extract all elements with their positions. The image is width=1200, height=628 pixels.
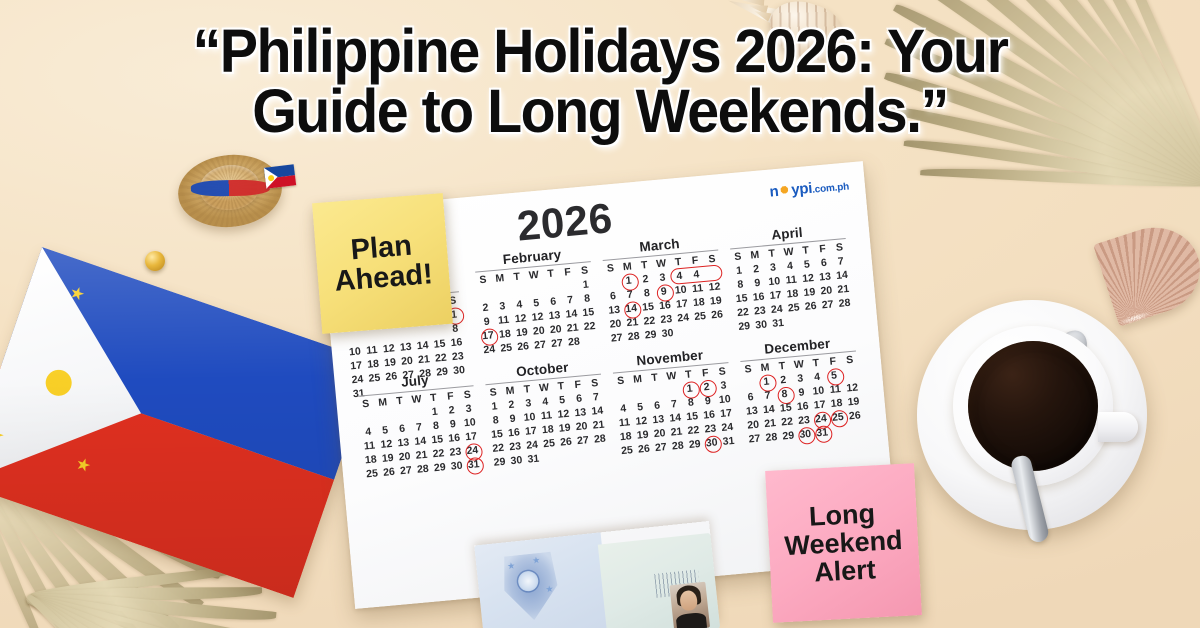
day-cell[interactable]: 29 bbox=[686, 437, 704, 452]
calendar-year: 2026 bbox=[515, 194, 614, 250]
day-cell[interactable]: 30 bbox=[752, 317, 770, 332]
day-empty bbox=[592, 445, 610, 460]
day-cell[interactable]: 30 bbox=[448, 458, 466, 473]
passport-seal-star-1: ★ bbox=[507, 560, 516, 572]
day-cell[interactable]: 26 bbox=[514, 339, 532, 354]
day-empty bbox=[558, 448, 576, 463]
day-cell-highlighted[interactable]: 31 bbox=[813, 425, 831, 440]
day-cell-highlighted[interactable]: 30 bbox=[796, 427, 814, 442]
flag-shading bbox=[0, 247, 375, 598]
flag-cloth: ★ ★ ★ bbox=[0, 247, 375, 598]
month-november: NovemberSMTWTFS1234567891011121314151617… bbox=[605, 345, 742, 459]
title-line-2: Guide to Long Weekends.” bbox=[62, 82, 1137, 142]
sticky-note-plan-ahead: PlanAhead! bbox=[312, 193, 453, 334]
passport-seal-star-3: ★ bbox=[545, 583, 554, 595]
month-april: AprilSMTWTFS1234567891011121314151617181… bbox=[723, 220, 860, 334]
day-cell[interactable]: 31 bbox=[769, 316, 787, 331]
day-cell[interactable]: 31 bbox=[524, 451, 542, 466]
logo-domain: .com.ph bbox=[812, 181, 850, 195]
day-empty bbox=[820, 311, 838, 326]
month-february: FebruarySMTWTFS1234567891112121314151718… bbox=[468, 244, 605, 358]
day-empty bbox=[709, 321, 727, 336]
day-cell[interactable]: 24 bbox=[480, 342, 498, 357]
cup-handle bbox=[1098, 412, 1138, 442]
day-cell[interactable]: 25 bbox=[363, 466, 381, 481]
sticky-note-long-weekend-alert: LongWeekendAlert bbox=[765, 463, 922, 623]
day-cell[interactable]: 31 bbox=[720, 434, 738, 449]
month-march: MarchSMTWTFS1234467891011121314151617181… bbox=[595, 232, 732, 346]
day-empty bbox=[675, 324, 693, 339]
title-line-1: “Philippine Holidays 2026: Your bbox=[62, 22, 1137, 82]
month-december: DecemberSMTWTFS1234567891011121314151617… bbox=[733, 333, 870, 447]
day-cell[interactable]: 27 bbox=[531, 337, 549, 352]
day-cell[interactable]: 25 bbox=[497, 340, 515, 355]
passport-data-page bbox=[598, 533, 721, 628]
day-cell[interactable]: 30 bbox=[658, 326, 676, 341]
passport-left-page: ★ ★ ★ bbox=[474, 532, 612, 628]
flag-pole-finial bbox=[145, 251, 165, 271]
day-empty bbox=[575, 447, 593, 462]
day-cell[interactable]: 26 bbox=[635, 441, 653, 456]
day-empty bbox=[830, 424, 848, 439]
sticky-note-pink-text: LongWeekendAlert bbox=[778, 496, 908, 591]
day-cell[interactable]: 28 bbox=[625, 329, 643, 344]
day-cell[interactable]: 25 bbox=[618, 443, 636, 458]
month-july: JulySMTWTFS12345678910111213141516171819… bbox=[350, 368, 487, 482]
day-cell[interactable]: 27 bbox=[397, 463, 415, 478]
day-cell[interactable]: 28 bbox=[669, 438, 687, 453]
passport-photo bbox=[669, 581, 710, 628]
day-cell[interactable]: 28 bbox=[762, 430, 780, 445]
day-cell[interactable]: 30 bbox=[507, 453, 525, 468]
day-cell[interactable]: 27 bbox=[548, 336, 566, 351]
day-cell[interactable]: 29 bbox=[735, 319, 753, 334]
day-cell[interactable]: 27 bbox=[652, 440, 670, 455]
day-cell[interactable]: 27 bbox=[745, 431, 763, 446]
day-cell[interactable]: 29 bbox=[642, 327, 660, 342]
day-cell-highlighted[interactable]: 31 bbox=[465, 457, 483, 472]
day-empty bbox=[692, 323, 710, 338]
day-cell[interactable]: 27 bbox=[608, 330, 626, 345]
sticky-note-yellow-text: PlanAhead! bbox=[327, 228, 438, 299]
day-cell[interactable]: 28 bbox=[414, 461, 432, 476]
day-empty bbox=[837, 310, 855, 325]
day-cell[interactable]: 29 bbox=[779, 428, 797, 443]
day-cell[interactable]: 28 bbox=[565, 334, 583, 349]
logo-word: ypi bbox=[791, 180, 813, 199]
social-card-image: ★ ★ ★ 2026 n bbox=[0, 0, 1200, 628]
day-empty bbox=[541, 450, 559, 465]
day-empty bbox=[582, 333, 600, 348]
day-cell[interactable]: 26 bbox=[380, 465, 398, 480]
day-empty bbox=[803, 313, 821, 328]
page-title: “Philippine Holidays 2026: Your Guide to… bbox=[36, 22, 1164, 142]
sun-icon bbox=[778, 183, 792, 197]
coffee-liquid bbox=[968, 341, 1098, 471]
day-cell[interactable]: 29 bbox=[431, 460, 449, 475]
site-logo[interactable]: n ypi .com.ph bbox=[769, 176, 850, 200]
day-cell-highlighted[interactable]: 30 bbox=[703, 435, 721, 450]
day-empty bbox=[786, 314, 804, 329]
day-empty bbox=[847, 422, 865, 437]
month-october: OctoberSMTWTFS12345678910111213141516171… bbox=[478, 356, 615, 470]
day-cell[interactable]: 29 bbox=[490, 454, 508, 469]
philippine-flag-pin-icon bbox=[264, 164, 296, 188]
passport-seal-star-2: ★ bbox=[532, 554, 541, 566]
